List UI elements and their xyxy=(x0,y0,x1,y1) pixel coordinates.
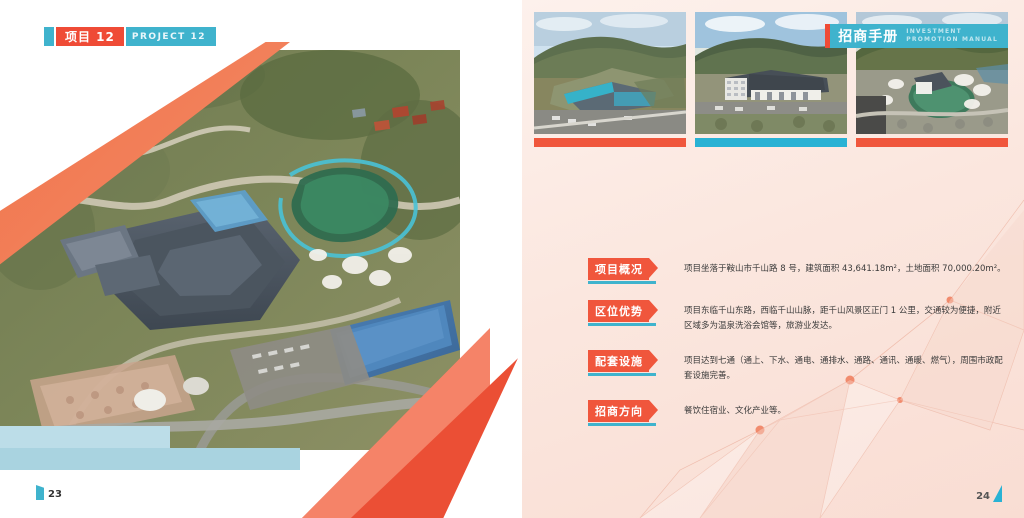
project-badge: 项目 12 PROJECT 12 xyxy=(44,27,216,46)
info-row-text: 项目坐落于鞍山市千山路 8 号，建筑面积 43,641.18m²，土地面积 70… xyxy=(684,258,1008,277)
info-row-text: 餐饮住宿业、文化产业等。 xyxy=(684,400,1008,419)
thumbnail-1-illustration xyxy=(534,12,686,134)
info-tag-wrap: 配套设施 xyxy=(588,350,666,376)
thumbnail-item xyxy=(695,12,847,147)
manual-badge: 招商手册 INVESTMENT PROMOTION MANUAL xyxy=(825,24,1008,48)
manual-badge-cn: 招商手册 xyxy=(838,26,898,46)
info-tag-label: 招商方向 xyxy=(588,400,649,422)
project-info-list: 项目概况 项目坐落于鞍山市千山路 8 号，建筑面积 43,641.18m²，土地… xyxy=(588,258,1008,442)
manual-badge-en-line2: PROMOTION MANUAL xyxy=(906,36,998,43)
decorative-cyan-strip xyxy=(0,448,300,470)
page-number-right: 24 xyxy=(976,485,1002,502)
info-tag-label: 配套设施 xyxy=(588,350,649,372)
info-tag-label: 区位优势 xyxy=(588,300,649,322)
info-row: 配套设施 项目达到七通（通上、下水、通电、通排水、通路、通讯、通暖、燃气），周围… xyxy=(588,350,1008,384)
thumbnail-3-colorbar xyxy=(856,138,1008,147)
manual-badge-body: 招商手册 INVESTMENT PROMOTION MANUAL xyxy=(830,24,1008,48)
info-tag-underline xyxy=(588,373,656,376)
right-page: 招商手册 INVESTMENT PROMOTION MANUAL xyxy=(520,0,1024,518)
info-row: 招商方向 餐饮住宿业、文化产业等。 xyxy=(588,400,1008,426)
page-marker-icon xyxy=(993,485,1002,502)
info-tag-underline xyxy=(588,423,656,426)
info-tag-wrap: 项目概况 xyxy=(588,258,666,284)
project-badge-en: PROJECT 12 xyxy=(126,27,216,46)
thumbnail-2-illustration xyxy=(695,12,847,134)
page-number-left: 23 xyxy=(36,485,62,500)
info-row-text: 项目东临千山东路，西临千山山脉，距千山风景区正门 1 公里，交通较为便捷，附近区… xyxy=(684,300,1008,334)
info-tag-wrap: 招商方向 xyxy=(588,400,666,426)
info-tag-label: 项目概况 xyxy=(588,258,649,280)
brochure-spread: 项目 12 PROJECT 12 23 xyxy=(0,0,1024,518)
badge-cyan-left-cap xyxy=(44,27,54,46)
thumbnail-photo-1 xyxy=(534,12,686,134)
left-page: 项目 12 PROJECT 12 23 xyxy=(0,0,520,518)
thumbnail-1-colorbar xyxy=(534,138,686,147)
info-row: 项目概况 项目坐落于鞍山市千山路 8 号，建筑面积 43,641.18m²，土地… xyxy=(588,258,1008,284)
spread-gutter xyxy=(518,0,522,518)
page-number-left-text: 23 xyxy=(48,489,62,500)
thumbnail-photo-2 xyxy=(695,12,847,134)
info-row-text: 项目达到七通（通上、下水、通电、通排水、通路、通讯、通暖、燃气），周围市政配套设… xyxy=(684,350,1008,384)
info-tag-underline xyxy=(588,323,656,326)
manual-badge-en-line1: INVESTMENT xyxy=(906,28,962,35)
info-tag-underline xyxy=(588,281,656,284)
thumbnail-2-colorbar xyxy=(695,138,847,147)
info-tag-wrap: 区位优势 xyxy=(588,300,666,326)
page-marker-icon xyxy=(36,485,44,500)
manual-badge-en: INVESTMENT PROMOTION MANUAL xyxy=(906,28,998,44)
page-number-right-text: 24 xyxy=(976,491,990,502)
thumbnail-item xyxy=(534,12,686,147)
project-badge-cn: 项目 12 xyxy=(54,27,126,46)
info-row: 区位优势 项目东临千山东路，西临千山山脉，距千山风景区正门 1 公里，交通较为便… xyxy=(588,300,1008,334)
